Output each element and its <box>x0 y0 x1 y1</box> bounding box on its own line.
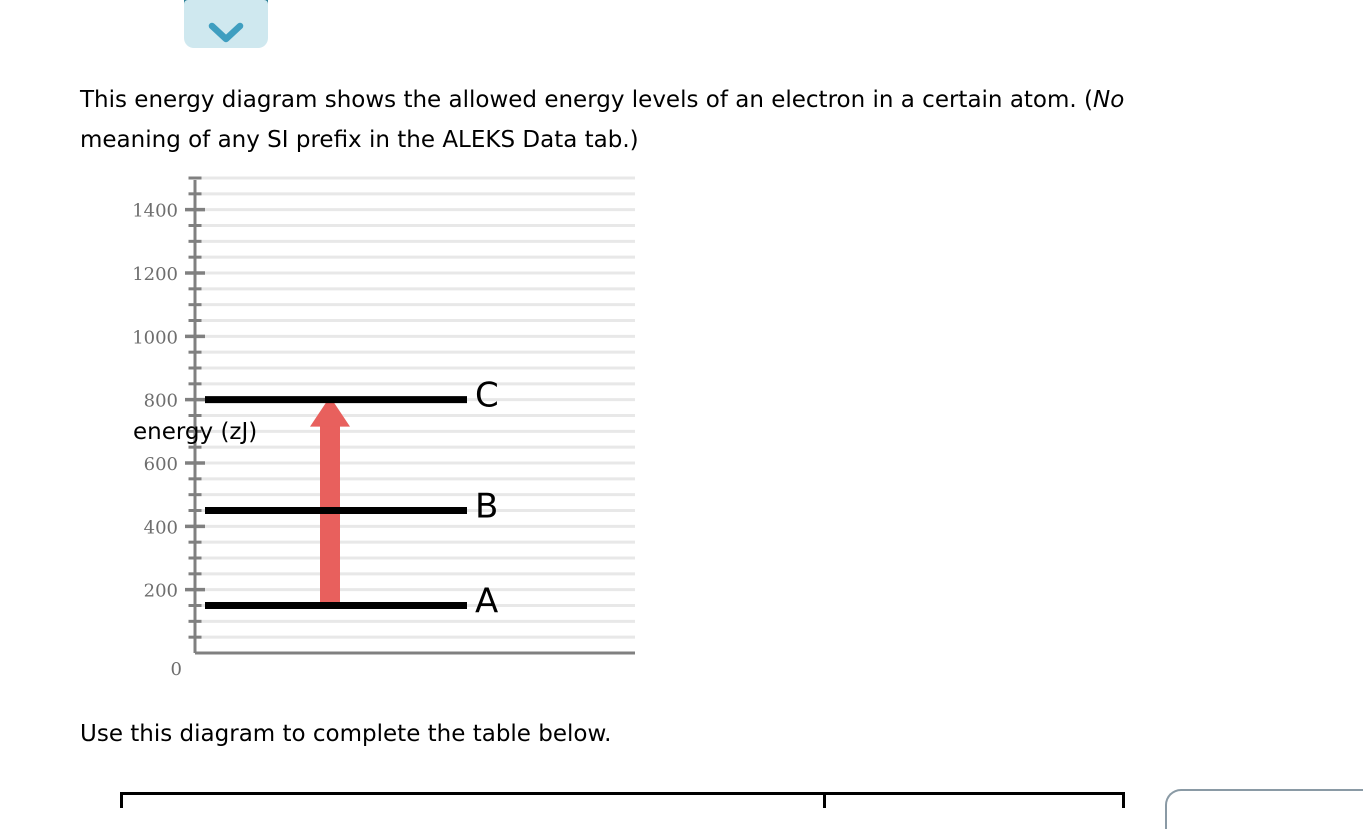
prompt-line-1: This energy diagram shows the allowed en… <box>80 80 1124 120</box>
energy-levels: CBA <box>205 376 499 622</box>
chart-gridlines <box>198 178 635 637</box>
y-axis-tick-label: 600 <box>144 454 178 475</box>
energy-level-label-b: B <box>475 487 498 527</box>
axis-origin-label: 0 <box>171 659 182 680</box>
answer-table[interactable] <box>120 792 1125 808</box>
prompt-note-italic: No <box>1093 87 1124 113</box>
answer-table-column-divider <box>823 795 826 808</box>
chevron-down-icon[interactable] <box>208 22 244 44</box>
instruction-text: Use this diagram to complete the table b… <box>80 714 612 754</box>
y-axis-label: energy (zJ) <box>133 419 257 445</box>
energy-level-label-c: C <box>475 376 499 416</box>
chart-tick-labels: 200400600800100012001400 <box>132 201 178 602</box>
y-axis-tick-label: 1400 <box>132 201 178 222</box>
energy-diagram-dropdown[interactable] <box>184 0 268 54</box>
prompt-line-1-text: This energy diagram shows the allowed en… <box>80 87 1093 113</box>
y-axis-tick-label: 1000 <box>132 327 178 348</box>
y-axis-tick-label: 800 <box>144 391 178 412</box>
energy-diagram-svg: 200400600800100012001400 0 energy (zJ) C… <box>0 150 820 690</box>
transition-arrow-shaft <box>320 426 340 606</box>
energy-level-label-a: A <box>475 582 498 622</box>
y-axis-tick-label: 1200 <box>132 264 178 285</box>
y-axis-tick-label: 200 <box>144 581 178 602</box>
energy-level-diagram: 200400600800100012001400 0 energy (zJ) C… <box>0 150 820 690</box>
y-axis-tick-label: 400 <box>144 517 178 538</box>
side-panel[interactable] <box>1165 789 1363 829</box>
